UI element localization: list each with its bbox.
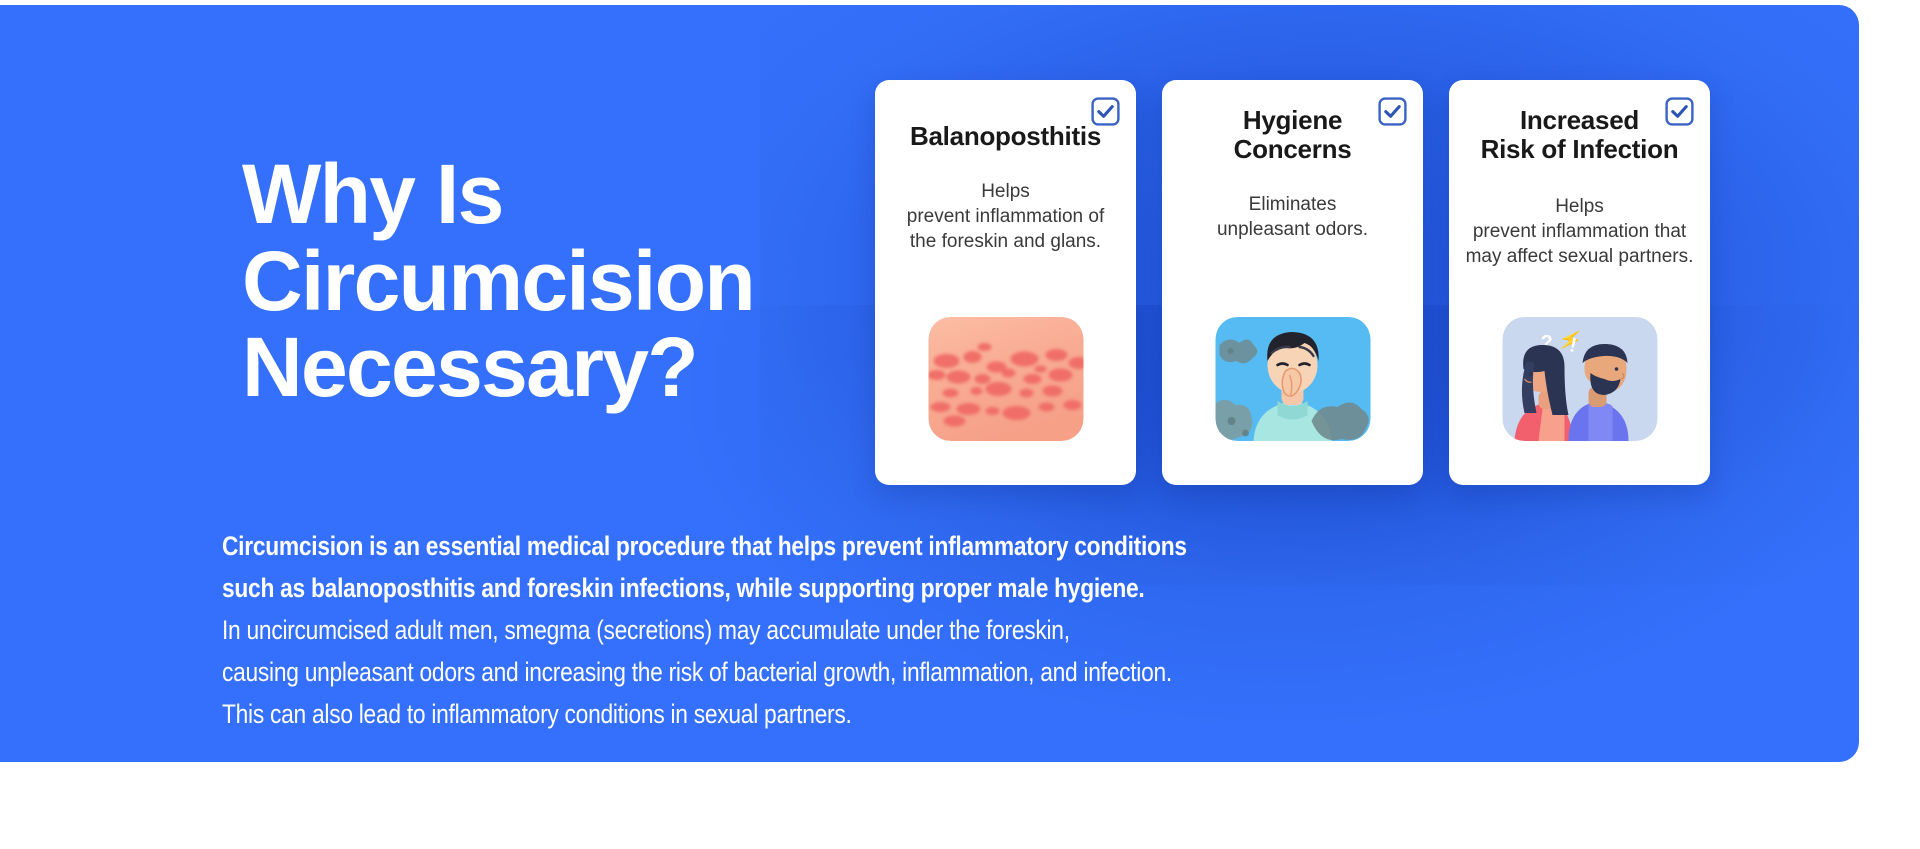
page-root: Why Is Circumcision Necessary? Balanopos… [0, 0, 1920, 849]
body-line: Circumcision is an essential medical pro… [222, 525, 1185, 567]
page-title: Why Is Circumcision Necessary? [242, 151, 902, 411]
body-line: This can also lead to inflammatory condi… [222, 693, 1185, 735]
man-holding-nose-illustration [1215, 317, 1370, 441]
inflamed-skin-illustration [928, 317, 1083, 441]
info-card-title: Balanoposthitis [887, 122, 1124, 151]
checkbox-checked-icon[interactable] [1378, 97, 1407, 126]
info-card-description: Helps prevent inflammation of the foresk… [887, 179, 1124, 254]
info-card-description: Helps prevent inflammation that may affe… [1461, 194, 1698, 269]
info-card-balanoposthitis[interactable]: Balanoposthitis Helps prevent inflammati… [875, 80, 1136, 485]
info-card-increased-risk-of-infection[interactable]: Increased Risk of Infection Helps preven… [1449, 80, 1710, 485]
info-card-hygiene-concerns[interactable]: Hygiene Concerns Eliminates unpleasant o… [1162, 80, 1423, 485]
body-line: In uncircumcised adult men, smegma (secr… [222, 609, 1185, 651]
body-line: such as balanoposthitis and foreskin inf… [222, 567, 1185, 609]
info-card-title: Increased Risk of Infection [1461, 106, 1698, 164]
info-cards-row: Balanoposthitis Helps prevent inflammati… [875, 80, 1710, 485]
info-card-description: Eliminates unpleasant odors. [1174, 192, 1411, 242]
checkbox-checked-icon[interactable] [1091, 97, 1120, 126]
body-line: causing unpleasant odors and increasing … [222, 651, 1185, 693]
couple-back-to-back-illustration: ? ⚡ ! [1502, 317, 1657, 441]
info-card-title: Hygiene Concerns [1174, 106, 1411, 164]
checkbox-checked-icon[interactable] [1665, 97, 1694, 126]
hero-body-text: Circumcision is an essential medical pro… [222, 525, 1342, 735]
